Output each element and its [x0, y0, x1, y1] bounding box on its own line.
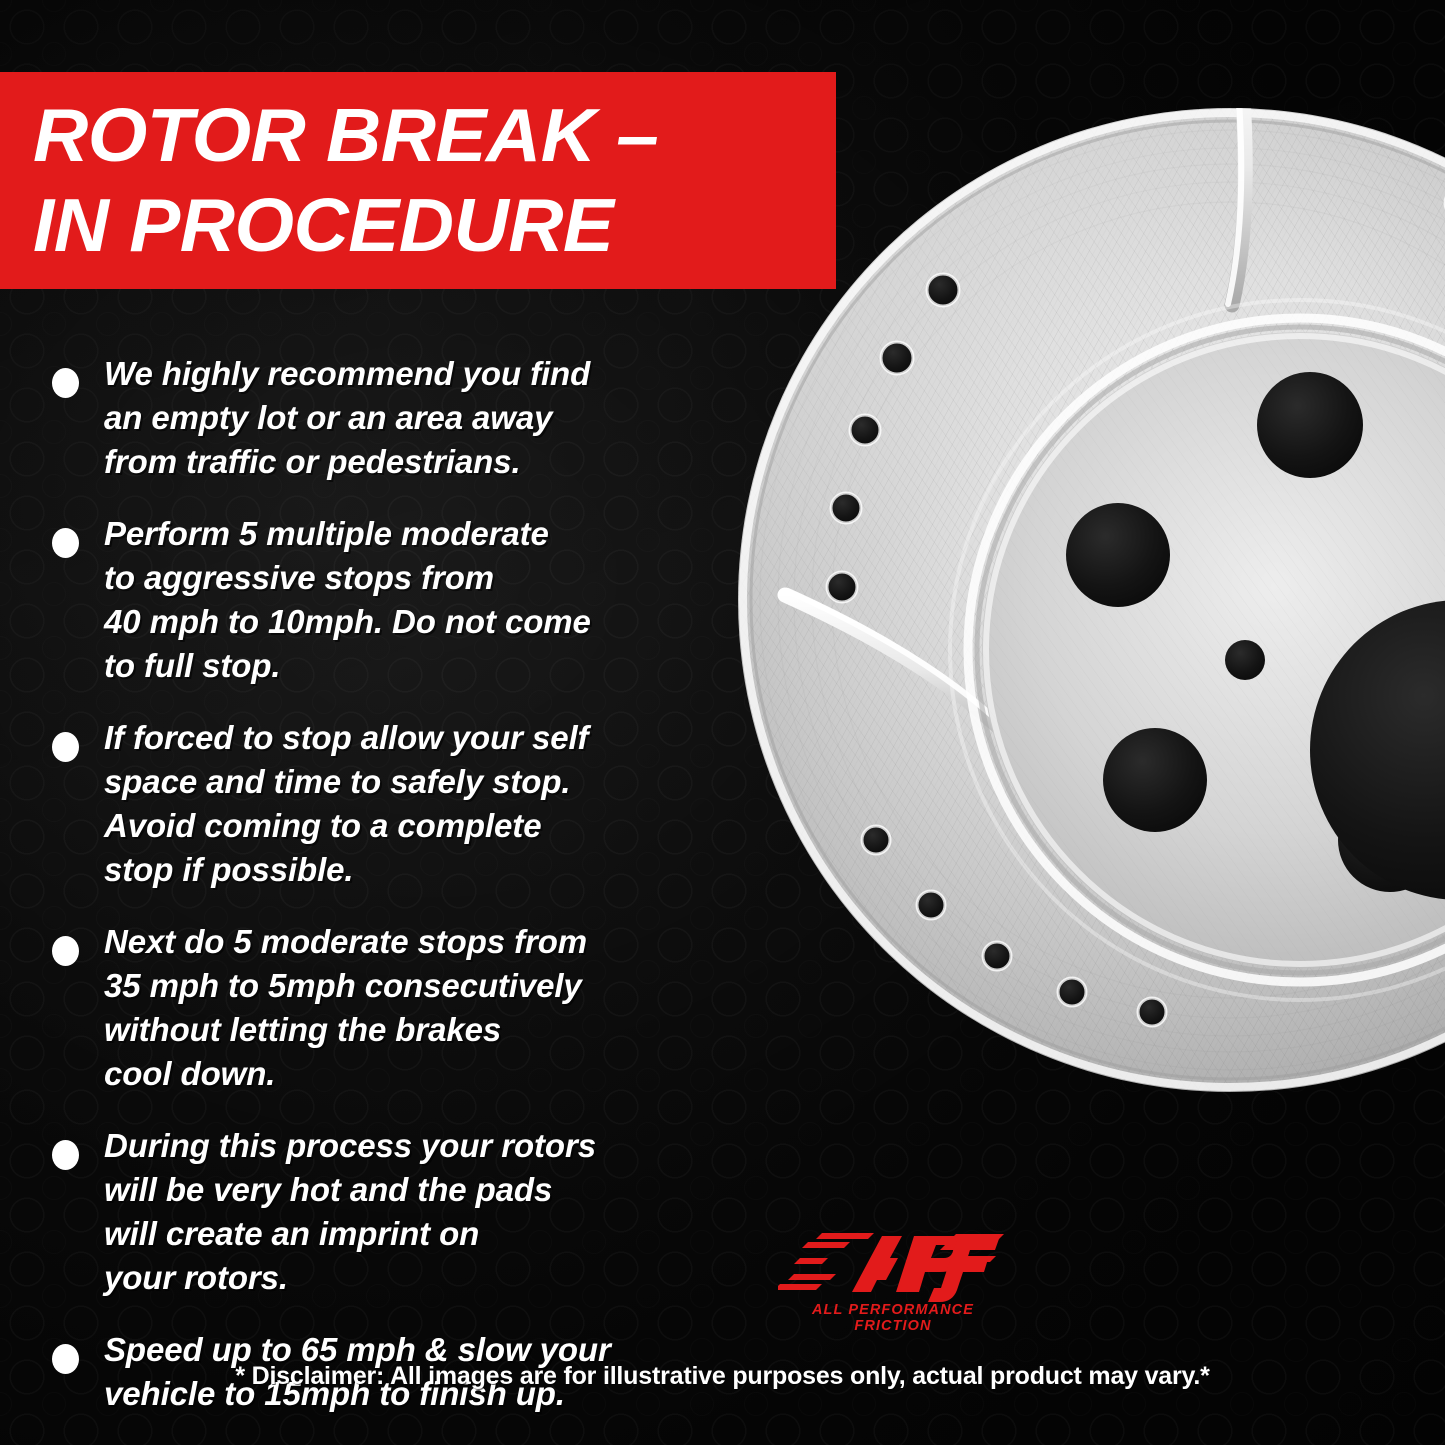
list-item-label: Next do 5 moderate stops from 35 mph to … [104, 920, 790, 1096]
list-item-label: During this process your rotors will be … [104, 1124, 790, 1300]
page-title: ROTOR BREAK – IN PROCEDURE [33, 90, 839, 270]
apf-logo-icon [778, 1228, 1008, 1302]
list-item: If forced to stop allow your self space … [0, 716, 790, 892]
list-item: Perform 5 multiple moderate to aggressiv… [0, 512, 790, 688]
list-item-label: We highly recommend you find an empty lo… [104, 352, 790, 484]
bullet-dot-icon [52, 1140, 79, 1170]
bullet-dot-icon [52, 528, 79, 558]
list-item-label: Perform 5 multiple moderate to aggressiv… [104, 512, 790, 688]
infographic-page: ROTOR BREAK – IN PROCEDURE We highly rec… [0, 0, 1445, 1445]
bullet-dot-icon [52, 368, 79, 398]
apf-logo-tagline: ALL PERFORMANCE FRICTION [778, 1302, 1008, 1334]
list-item: We highly recommend you find an empty lo… [0, 352, 790, 484]
apf-logo: ALL PERFORMANCE FRICTION [778, 1228, 1008, 1328]
procedure-list: We highly recommend you find an empty lo… [0, 352, 790, 1444]
list-item: During this process your rotors will be … [0, 1124, 790, 1300]
title-banner: ROTOR BREAK – IN PROCEDURE [0, 72, 836, 289]
disclaimer-text: * Disclaimer: All images are for illustr… [0, 1362, 1445, 1391]
list-item: Next do 5 moderate stops from 35 mph to … [0, 920, 790, 1096]
bullet-dot-icon [52, 936, 79, 966]
list-item-label: If forced to stop allow your self space … [104, 716, 790, 892]
bullet-dot-icon [52, 732, 79, 762]
